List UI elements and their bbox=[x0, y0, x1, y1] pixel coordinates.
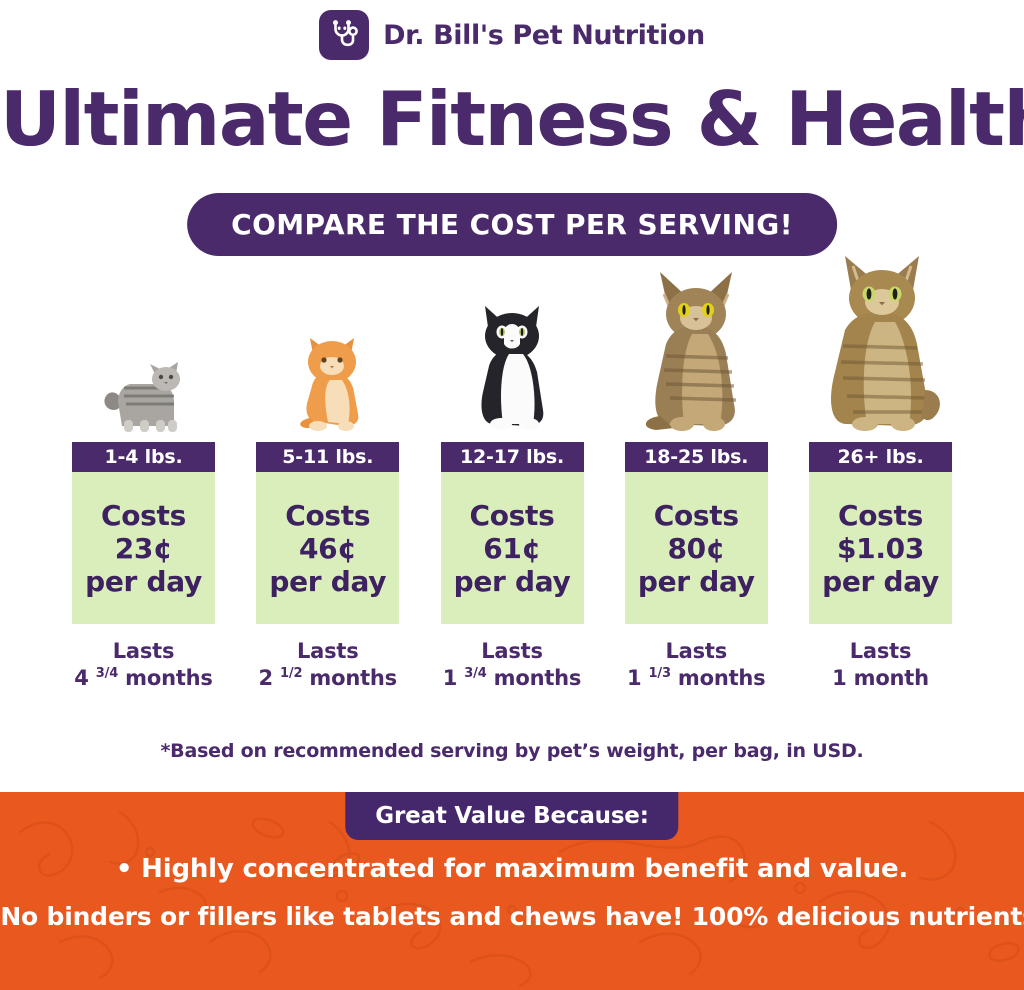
lasts-label: Lasts bbox=[832, 638, 929, 665]
cost-box: Costs 80¢ per day bbox=[625, 472, 768, 624]
lasts-label: Lasts bbox=[627, 638, 765, 665]
lasts-duration: 2 1/2 months bbox=[259, 665, 397, 692]
weight-badge: 18-25 lbs. bbox=[625, 442, 768, 472]
lasts-block: Lasts 2 1/2 months bbox=[259, 638, 397, 692]
lasts-whole: 1 bbox=[443, 666, 457, 690]
kitten-standing-tabby-icon bbox=[62, 324, 225, 440]
page-title: Ultimate Fitness & Health bbox=[0, 76, 1024, 162]
lasts-whole: 1 bbox=[627, 666, 641, 690]
footnote: *Based on recommended serving by pet’s w… bbox=[0, 740, 1024, 762]
lasts-whole: 4 bbox=[74, 666, 88, 690]
cost-label: Costs bbox=[285, 499, 370, 532]
weight-label: 18-25 lbs. bbox=[644, 446, 748, 468]
great-value-banner: Great Value Because: bbox=[345, 792, 678, 840]
weight-label: 26+ lbs. bbox=[837, 446, 923, 468]
cost-column: 18-25 lbs. Costs 80¢ per day Lasts 1 1/3… bbox=[615, 264, 778, 692]
lasts-unit: months bbox=[125, 666, 213, 690]
compare-cost-banner: COMPARE THE COST PER SERVING! bbox=[187, 193, 837, 256]
lasts-duration: 1 month bbox=[832, 665, 929, 692]
lasts-unit: months bbox=[494, 666, 582, 690]
brand-name: Dr. Bill's Pet Nutrition bbox=[383, 20, 705, 51]
cost-value: $1.03 bbox=[837, 532, 924, 565]
lasts-duration: 1 3/4 months bbox=[443, 665, 581, 692]
weight-badge: 1-4 lbs. bbox=[72, 442, 215, 472]
lasts-duration: 4 3/4 months bbox=[74, 665, 212, 692]
cost-box: Costs 61¢ per day bbox=[441, 472, 584, 624]
cat-sitting-tuxedo-icon bbox=[431, 288, 594, 440]
cost-period: per day bbox=[638, 565, 755, 598]
cost-period: per day bbox=[85, 565, 202, 598]
cost-label: Costs bbox=[654, 499, 739, 532]
cost-label: Costs bbox=[469, 499, 554, 532]
infographic-page: Dr. Bill's Pet Nutrition Ultimate Fitnes… bbox=[0, 0, 1024, 990]
value-bullet-list: • Highly concentrated for maximum benefi… bbox=[0, 854, 1024, 931]
cat-sitting-orange-icon bbox=[246, 302, 409, 440]
lasts-block: Lasts 1 month bbox=[832, 638, 929, 692]
value-section: Great Value Because: • Highly concentrat… bbox=[0, 792, 1024, 990]
list-item: • No binders or fillers like tablets and… bbox=[0, 902, 1024, 931]
weight-badge: 26+ lbs. bbox=[809, 442, 952, 472]
cost-value: 23¢ bbox=[115, 532, 173, 565]
cost-box: Costs 46¢ per day bbox=[256, 472, 399, 624]
lasts-unit: months bbox=[309, 666, 397, 690]
lasts-block: Lasts 1 3/4 months bbox=[443, 638, 581, 692]
weight-label: 5-11 lbs. bbox=[282, 446, 373, 468]
weight-badge: 5-11 lbs. bbox=[256, 442, 399, 472]
lasts-label: Lasts bbox=[74, 638, 212, 665]
cost-value: 46¢ bbox=[299, 532, 357, 565]
stethoscope-paw-icon bbox=[319, 10, 369, 60]
lasts-label: Lasts bbox=[259, 638, 397, 665]
cost-column: 5-11 lbs. Costs 46¢ per day Lasts 2 1/2 … bbox=[246, 302, 409, 692]
cost-column: 1-4 lbs. Costs 23¢ per day Lasts 4 3/4 m… bbox=[62, 324, 225, 692]
cost-comparison-row: 1-4 lbs. Costs 23¢ per day Lasts 4 3/4 m… bbox=[62, 262, 962, 692]
brand-header: Dr. Bill's Pet Nutrition bbox=[0, 6, 1024, 64]
lasts-block: Lasts 4 3/4 months bbox=[74, 638, 212, 692]
weight-label: 12-17 lbs. bbox=[460, 446, 564, 468]
cost-column: 26+ lbs. Costs $1.03 per day Lasts 1 mon… bbox=[799, 250, 962, 692]
cost-box: Costs $1.03 per day bbox=[809, 472, 952, 624]
compare-cost-banner-label: COMPARE THE COST PER SERVING! bbox=[231, 208, 793, 241]
lasts-label: Lasts bbox=[443, 638, 581, 665]
great-value-banner-label: Great Value Because: bbox=[375, 803, 648, 829]
cat-sitting-large-tabby-icon bbox=[799, 250, 962, 440]
lasts-block: Lasts 1 1/3 months bbox=[627, 638, 765, 692]
cost-label: Costs bbox=[101, 499, 186, 532]
cat-sitting-maine-coon-icon bbox=[615, 264, 778, 440]
lasts-whole: 1 bbox=[832, 666, 846, 690]
list-item: • Highly concentrated for maximum benefi… bbox=[116, 854, 908, 884]
lasts-unit: months bbox=[678, 666, 766, 690]
cost-column: 12-17 lbs. Costs 61¢ per day Lasts 1 3/4… bbox=[431, 288, 594, 692]
cost-label: Costs bbox=[838, 499, 923, 532]
cost-period: per day bbox=[269, 565, 386, 598]
cost-value: 80¢ bbox=[667, 532, 725, 565]
cost-value: 61¢ bbox=[483, 532, 541, 565]
cost-period: per day bbox=[454, 565, 571, 598]
lasts-fraction: 3/4 bbox=[96, 666, 118, 681]
lasts-fraction: 1/2 bbox=[280, 666, 302, 681]
lasts-duration: 1 1/3 months bbox=[627, 665, 765, 692]
cost-box: Costs 23¢ per day bbox=[72, 472, 215, 624]
weight-badge: 12-17 lbs. bbox=[441, 442, 584, 472]
lasts-fraction: 3/4 bbox=[464, 666, 486, 681]
lasts-unit: month bbox=[854, 666, 929, 690]
weight-label: 1-4 lbs. bbox=[105, 446, 183, 468]
lasts-fraction: 1/3 bbox=[649, 666, 671, 681]
cost-period: per day bbox=[822, 565, 939, 598]
lasts-whole: 2 bbox=[259, 666, 273, 690]
